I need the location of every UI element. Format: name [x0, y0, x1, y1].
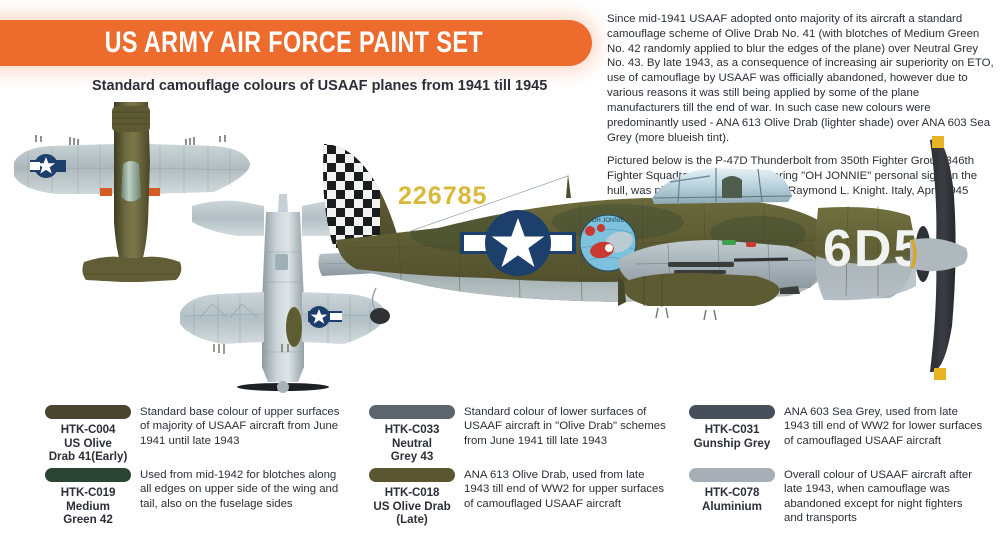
colour-swatch-htk-c031	[689, 405, 775, 419]
side-view-spinner	[910, 238, 968, 271]
colour-swatch-htk-c019	[45, 468, 131, 482]
bottom-view-horizontal-stabiliser-left	[192, 201, 264, 236]
swatch-name-line2-htk-c004: Drab 41(Early)	[28, 450, 148, 464]
side-view-bomb-shackles-2	[704, 310, 716, 320]
legend-description-htk-c031: ANA 603 Sea Grey, used from late 1943 ti…	[784, 405, 984, 448]
side-view-propeller	[910, 136, 968, 380]
top-view-wing-marking-left	[100, 188, 112, 196]
legend-description-htk-c019: Used from mid-1942 for blotches along al…	[140, 468, 345, 511]
legend-column-1: HTK-C004 US Olive Drab 41(Early) Standar…	[28, 400, 348, 536]
legend-description-htk-c078: Overall colour of USAAF aircraft after l…	[784, 468, 984, 526]
legend-description-htk-c018: ANA 613 Olive Drab, used from late 1943 …	[464, 468, 669, 511]
swatch-code-htk-c031: HTK-C031	[672, 423, 792, 437]
side-view-tailwheel	[370, 308, 390, 324]
bottom-view-cockpit-panel	[275, 254, 288, 270]
title-banner: US ARMY AIR FORCE PAINT SET	[0, 20, 592, 66]
swatch-group-htk-c031: HTK-C031 Gunship Grey	[672, 405, 792, 450]
legend-column-2: HTK-C033 Neutral Grey 43 Standard colour…	[352, 400, 672, 536]
side-view-nav-light-red	[746, 242, 756, 247]
swatch-code-htk-c078: HTK-C078	[672, 486, 792, 500]
side-view-prop-tip-bottom	[934, 368, 946, 380]
side-view-nav-light-green	[722, 240, 736, 245]
bottom-view-fuselage	[262, 212, 304, 382]
swatch-name-line2-htk-c018: (Late)	[352, 513, 472, 527]
colour-swatch-htk-c004	[45, 405, 131, 419]
bottom-view-left-wing	[180, 292, 264, 344]
swatch-code-htk-c018: HTK-C018	[352, 486, 472, 500]
page-subtitle: Standard camouflage colours of USAAF pla…	[92, 78, 547, 94]
top-view-wing-marking-right	[148, 188, 160, 196]
swatch-name-line1-htk-c019: Medium	[28, 500, 148, 514]
swatch-code-htk-c033: HTK-C033	[352, 423, 472, 437]
swatch-name-line2-htk-c033: Grey 43	[352, 450, 472, 464]
swatch-group-htk-c078: HTK-C078 Aluminium	[672, 468, 792, 513]
legend-description-htk-c004: Standard base colour of upper surfaces o…	[140, 405, 345, 448]
colour-swatch-htk-c078	[689, 468, 775, 482]
p47-side-view-illustration: 226785	[318, 136, 993, 396]
paint-colour-legend: HTK-C004 US Olive Drab 41(Early) Standar…	[0, 400, 1000, 536]
top-view-engine-cowl	[112, 106, 150, 132]
side-view-antenna-mast	[566, 174, 571, 198]
swatch-group-htk-c018: HTK-C018 US Olive Drab (Late)	[352, 468, 472, 527]
swatch-name-line1-htk-c078: Aluminium	[672, 500, 792, 514]
legend-column-3: HTK-C031 Gunship Grey ANA 603 Sea Grey, …	[672, 400, 994, 536]
side-view-nose-art-text: OH JONNIE	[592, 218, 625, 224]
swatch-name-line1-htk-c033: Neutral	[352, 437, 472, 451]
top-view-canopy	[121, 161, 141, 202]
bottom-view-drop-tank	[286, 307, 302, 347]
side-view-pilot-silhouette	[722, 176, 742, 198]
swatch-name-line1-htk-c031: Gunship Grey	[672, 437, 792, 451]
side-view-engine-cowling: 6D5	[815, 206, 924, 300]
swatch-name-line1-htk-c018: US Olive Drab	[352, 500, 472, 514]
swatch-code-htk-c019: HTK-C019	[28, 486, 148, 500]
side-view-tail-number: 226785	[398, 182, 487, 210]
swatch-name-line1-htk-c004: US Olive	[28, 437, 148, 451]
swatch-group-htk-c004: HTK-C004 US Olive Drab 41(Early)	[28, 405, 148, 464]
side-view-canopy	[652, 168, 792, 204]
side-view-prop-tip-top	[932, 136, 944, 148]
side-view-fuselage-code: 6D5	[823, 220, 924, 278]
side-view-bomb-shackles	[656, 308, 668, 318]
swatch-group-htk-c019: HTK-C019 Medium Green 42	[28, 468, 148, 527]
swatch-group-htk-c033: HTK-C033 Neutral Grey 43	[352, 405, 472, 464]
top-view-horizontal-stabiliser	[82, 257, 181, 282]
colour-swatch-htk-c018	[369, 468, 455, 482]
colour-swatch-htk-c033	[369, 405, 455, 419]
swatch-name-line2-htk-c019: Green 42	[28, 513, 148, 527]
bottom-view-spinner	[277, 381, 289, 393]
aircraft-illustrations: 226785	[0, 96, 1000, 406]
page-title: US ARMY AIR FORCE PAINT SET	[47, 20, 524, 66]
swatch-code-htk-c004: HTK-C004	[28, 423, 148, 437]
legend-description-htk-c033: Standard colour of lower surfaces of USA…	[464, 405, 669, 448]
